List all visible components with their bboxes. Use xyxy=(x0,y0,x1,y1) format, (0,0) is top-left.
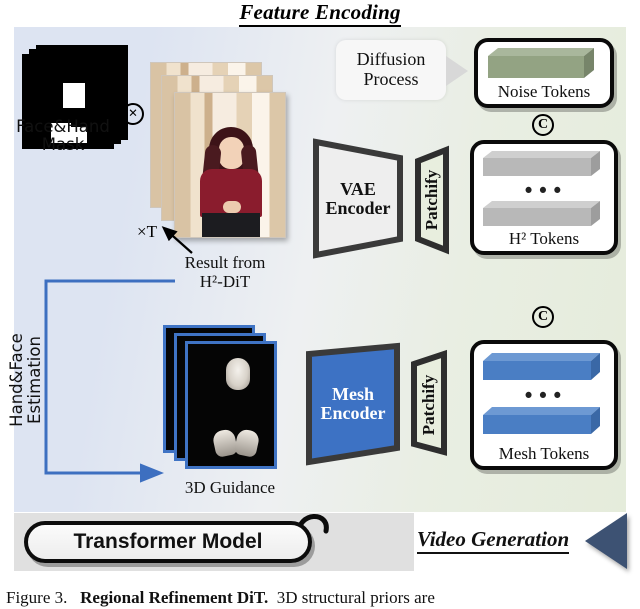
mesh-token-slab-bottom xyxy=(483,406,605,436)
noise-tokens-box: Noise Tokens xyxy=(474,38,614,108)
guidance-hands-mesh xyxy=(214,430,258,456)
estimation-label-line1: Hand&Face xyxy=(7,333,26,427)
concat-symbol-top: C xyxy=(538,117,548,133)
transformer-model-label: Transformer Model xyxy=(73,530,262,554)
repeat-arrow-icon xyxy=(152,222,198,256)
mesh-label-line2: Encoder xyxy=(321,404,386,423)
mask-caption-line2: Mask xyxy=(0,136,128,154)
circled-c-icon-top: C xyxy=(532,114,554,136)
photo-skirt xyxy=(202,213,260,238)
mesh-encoder-block: Mesh Encoder xyxy=(303,340,403,468)
diffusion-line1: Diffusion xyxy=(357,50,426,70)
patchify-bottom-label: Patchify xyxy=(419,374,439,434)
hand-face-estimation-label: Hand&Face Estimation xyxy=(8,300,34,460)
guidance-right-hand xyxy=(234,428,261,458)
times-symbol: × xyxy=(128,106,137,122)
figure-title: Feature Encoding xyxy=(0,0,640,25)
h2-tokens-caption: H² Tokens xyxy=(474,229,614,249)
transformer-model-box[interactable]: Transformer Model xyxy=(24,521,312,563)
video-generation-label: Video Generation xyxy=(417,527,569,554)
h2-token-slab-top xyxy=(483,150,605,178)
guidance-face-mesh xyxy=(226,358,250,390)
vae-label-line1: VAE xyxy=(340,180,376,199)
concat-symbol-bottom: C xyxy=(538,309,548,325)
mask-face-region xyxy=(63,83,85,108)
figure-root: Feature Encoding Face&Hand Mask × xyxy=(0,0,640,609)
figure-caption: Figure 3. Regional Refinement DiT. 3D st… xyxy=(6,588,634,608)
guidance-caption: 3D Guidance xyxy=(150,478,310,498)
result-photo-stack xyxy=(150,62,290,247)
result-caption-line1: Result from xyxy=(150,253,300,272)
diffusion-process-bubble: Diffusion Process xyxy=(336,40,446,100)
triangle-left-icon xyxy=(585,513,627,569)
vae-encoder-block: VAE Encoder xyxy=(310,136,406,261)
vae-label-line2: Encoder xyxy=(326,199,391,218)
mask-caption-line1: Face&Hand xyxy=(0,118,128,136)
mesh-token-slab-top xyxy=(483,352,605,382)
circled-times-icon: × xyxy=(122,103,144,125)
h2-tokens-box: ••• H² Tokens xyxy=(470,140,618,255)
guidance-frame-front xyxy=(185,341,277,469)
diffusion-line2: Process xyxy=(364,70,419,90)
circled-c-icon-bottom: C xyxy=(532,306,554,328)
face-hand-mask-caption: Face&Hand Mask xyxy=(0,118,128,154)
triangle-right-icon xyxy=(446,56,468,86)
guidance-left-hand xyxy=(212,428,239,458)
caption-bold: Regional Refinement DiT. xyxy=(80,588,268,607)
result-photo-front xyxy=(174,92,286,238)
noise-tokens-caption: Noise Tokens xyxy=(478,82,610,102)
noise-token-slab xyxy=(488,46,598,80)
patchify-bottom-label-wrap: Patchify xyxy=(408,348,450,461)
caption-prefix: Figure 3. xyxy=(6,588,67,607)
mesh-tokens-ellipsis: ••• xyxy=(474,386,614,407)
patchify-top-label: Patchify xyxy=(422,170,442,230)
patchify-top-block: Patchify xyxy=(412,145,452,255)
patchify-bottom-block: Patchify xyxy=(408,348,450,461)
mesh-label-line1: Mesh xyxy=(332,385,374,404)
figure-title-text: Feature Encoding xyxy=(239,0,400,27)
photo-hands xyxy=(223,201,241,213)
patchify-top-label-wrap: Patchify xyxy=(412,145,452,255)
mesh-tokens-box: ••• Mesh Tokens xyxy=(470,340,618,470)
mesh-tokens-caption: Mesh Tokens xyxy=(474,444,614,464)
guidance-frame-stack xyxy=(163,325,293,480)
video-generation-label-wrap: Video Generation xyxy=(400,527,586,552)
caption-rest: 3D structural priors are xyxy=(277,588,435,607)
h2-token-slab-bottom xyxy=(483,200,605,228)
vae-encoder-label: VAE Encoder xyxy=(310,136,406,261)
mesh-encoder-label: Mesh Encoder xyxy=(303,340,403,468)
h2-tokens-ellipsis: ••• xyxy=(474,181,614,202)
